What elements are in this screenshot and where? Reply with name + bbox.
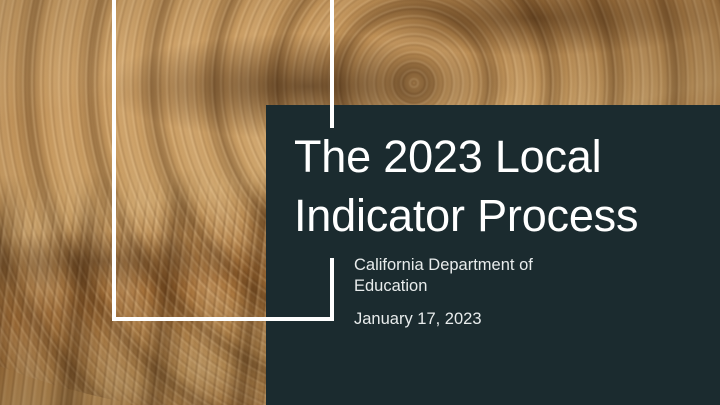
title-slide: The 2023 Local Indicator Process Califor… — [0, 0, 720, 405]
subtitle-organization: California Department of Education — [354, 255, 674, 297]
frame-line-vertical-right-bottom — [330, 258, 334, 321]
frame-line-vertical-right-top — [330, 0, 334, 128]
frame-line-vertical-left — [112, 0, 116, 321]
slide-title: The 2023 Local Indicator Process — [294, 128, 694, 245]
subtitle-date: January 17, 2023 — [354, 309, 674, 330]
slide-subtitle: California Department of Education Janua… — [354, 255, 674, 330]
frame-line-horizontal-bottom — [112, 317, 334, 321]
